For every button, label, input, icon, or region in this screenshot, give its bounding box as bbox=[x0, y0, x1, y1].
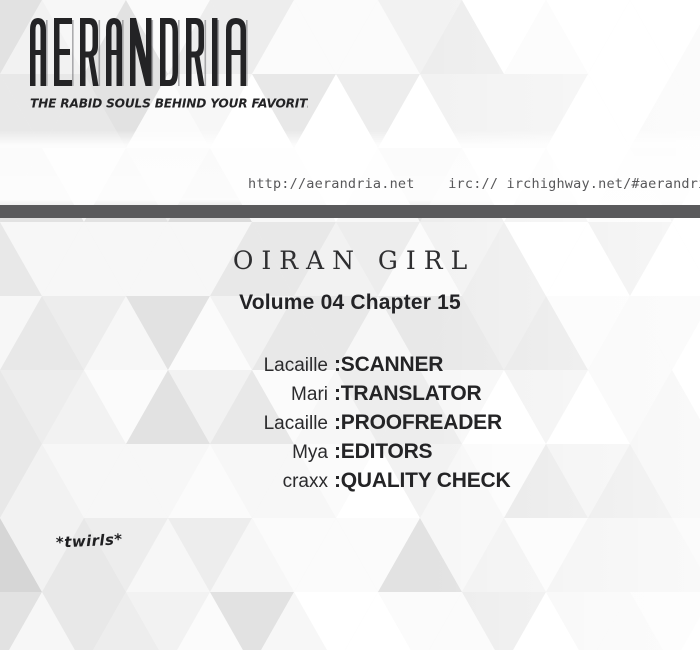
credit-row: Mari:TRANSLATOR bbox=[0, 379, 700, 408]
group-title: OIRAN GIRL Volume 04 Chapter 15 bbox=[0, 246, 700, 315]
credit-name: Lacaille bbox=[0, 351, 328, 380]
credit-name: Mya bbox=[0, 438, 328, 467]
links-line: http://aerandria.net irc:// irchighway.n… bbox=[248, 176, 700, 192]
credit-role: :PROOFREADER bbox=[334, 408, 502, 437]
credit-role: :QUALITY CHECK bbox=[334, 466, 510, 495]
website-url[interactable]: http://aerandria.net bbox=[248, 176, 415, 192]
irc-url[interactable]: irc:// irchighway.net/#aerandria bbox=[448, 176, 700, 192]
credit-row: Lacaille:PROOFREADER bbox=[0, 408, 700, 437]
credit-role: :EDITORS bbox=[334, 437, 432, 466]
credit-name: Mari bbox=[0, 380, 328, 409]
twirls-annotation: *twirls* bbox=[56, 530, 123, 551]
tagline-text: THE RABID SOULS BEHIND YOUR FAVORITE REL… bbox=[30, 94, 308, 111]
credit-row: Mya:EDITORS bbox=[0, 437, 700, 466]
credits-list: Lacaille:SCANNERMari:TRANSLATORLacaille:… bbox=[0, 350, 700, 495]
volume-chapter-label: Volume 04 Chapter 15 bbox=[0, 291, 700, 315]
credit-role: :TRANSLATOR bbox=[334, 379, 482, 408]
series-title: OIRAN GIRL bbox=[0, 246, 700, 276]
credit-role: :SCANNER bbox=[334, 350, 443, 379]
credit-name: Lacaille bbox=[0, 409, 328, 438]
credit-name: craxx bbox=[0, 467, 328, 496]
aerandria-wordmark-logo bbox=[28, 14, 300, 86]
release-credits-page: THE RABID SOULS BEHIND YOUR FAVORITE REL… bbox=[0, 0, 700, 650]
credit-row: Lacaille:SCANNER bbox=[0, 350, 700, 379]
group-branding: THE RABID SOULS BEHIND YOUR FAVORITE REL… bbox=[28, 14, 448, 111]
header-divider-bar bbox=[0, 205, 700, 218]
tagline-glyphs: THE RABID SOULS BEHIND YOUR FAVORITE REL… bbox=[30, 97, 308, 111]
credit-row: craxx:QUALITY CHECK bbox=[0, 466, 700, 495]
